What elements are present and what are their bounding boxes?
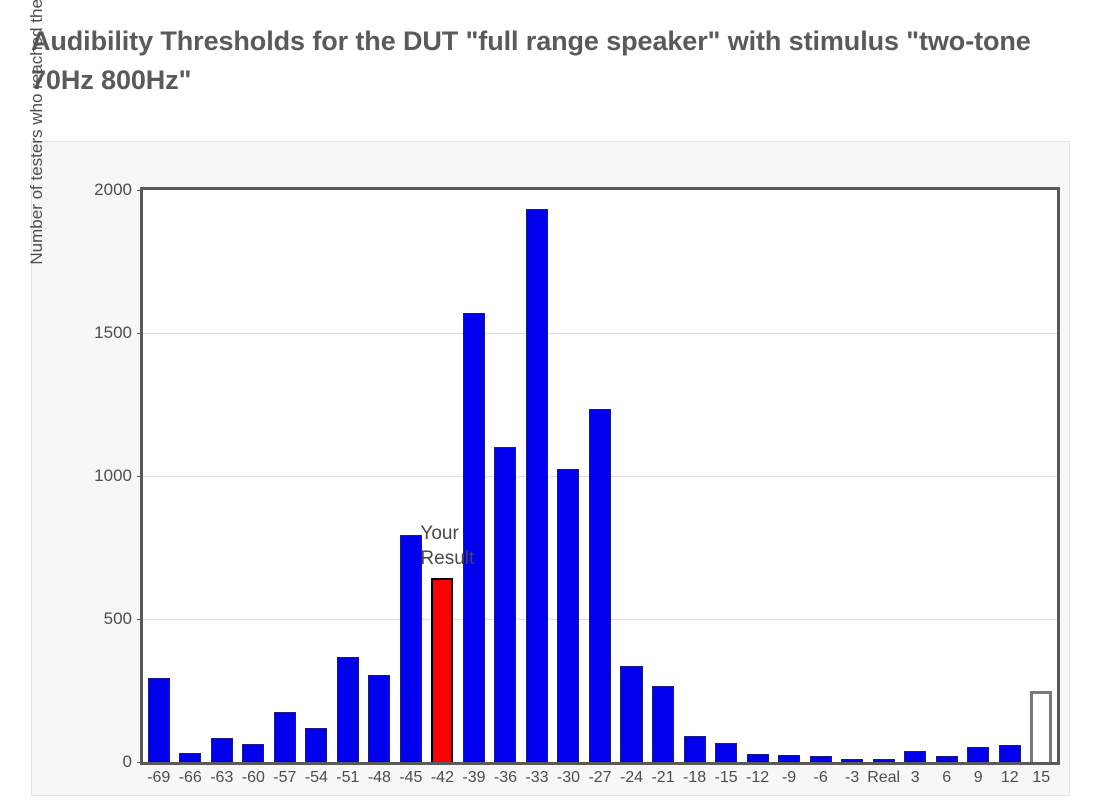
bar[interactable] <box>810 756 832 762</box>
y-tick-mark <box>137 762 143 763</box>
x-tick-label: -48 <box>368 769 391 787</box>
x-tick-label: -30 <box>557 769 580 787</box>
x-tick-label: -6 <box>813 769 827 787</box>
bar[interactable] <box>873 759 895 762</box>
x-tick-label: -15 <box>715 769 738 787</box>
bar[interactable] <box>715 743 737 762</box>
gridline <box>143 333 1057 334</box>
bar[interactable] <box>904 751 926 762</box>
bar[interactable] <box>841 759 863 762</box>
bar[interactable] <box>337 657 359 762</box>
bar[interactable] <box>652 686 674 762</box>
x-tick-label: -36 <box>494 769 517 787</box>
x-tick-label: 3 <box>911 769 920 787</box>
y-tick-label: 500 <box>104 609 132 629</box>
bar[interactable] <box>936 756 958 762</box>
bar[interactable] <box>557 469 579 762</box>
x-tick-label: 6 <box>942 769 951 787</box>
y-tick-label: 2000 <box>94 180 132 200</box>
bar[interactable] <box>211 738 233 762</box>
page-title: Audibility Thresholds for the DUT "full … <box>31 22 1061 100</box>
x-tick-label: -54 <box>305 769 328 787</box>
bar[interactable] <box>148 678 170 762</box>
y-tick-mark <box>137 333 143 334</box>
x-tick-label: -24 <box>620 769 643 787</box>
y-tick-label: 1500 <box>94 323 132 343</box>
bar[interactable] <box>179 753 201 762</box>
x-tick-label: -39 <box>462 769 485 787</box>
x-tick-label: -60 <box>242 769 265 787</box>
x-tick-label: -45 <box>399 769 422 787</box>
bar[interactable] <box>494 447 516 762</box>
y-tick-mark <box>137 619 143 620</box>
bar[interactable] <box>589 409 611 762</box>
x-tick-label: -69 <box>147 769 170 787</box>
bar[interactable] <box>620 666 642 762</box>
x-tick-label: -3 <box>845 769 859 787</box>
bar[interactable] <box>463 313 485 762</box>
x-tick-label: -9 <box>782 769 796 787</box>
bar[interactable] <box>967 747 989 762</box>
bar[interactable] <box>1030 691 1052 763</box>
bar[interactable] <box>999 745 1021 762</box>
bar[interactable] <box>400 535 422 762</box>
x-tick-label: 9 <box>974 769 983 787</box>
bar[interactable] <box>778 755 800 762</box>
x-tick-label: -33 <box>525 769 548 787</box>
x-tick-label: -66 <box>179 769 202 787</box>
y-axis-title: Number of testers who reached the level <box>27 0 47 322</box>
y-tick-mark <box>137 190 143 191</box>
x-tick-label: -12 <box>746 769 769 787</box>
chart-panel: Number of testers who reached the level … <box>31 141 1070 796</box>
x-tick-label: -51 <box>336 769 359 787</box>
x-tick-label: -18 <box>683 769 706 787</box>
y-tick-mark <box>137 476 143 477</box>
y-tick-label: 1000 <box>94 466 132 486</box>
x-tick-label: 12 <box>1001 769 1019 787</box>
y-tick-label: 0 <box>123 752 132 772</box>
x-tick-label: -27 <box>588 769 611 787</box>
plot-inner: 0500100015002000-69-66-63-60-57-54-51-48… <box>143 190 1057 762</box>
x-tick-label: -57 <box>273 769 296 787</box>
plot-area: 0500100015002000-69-66-63-60-57-54-51-48… <box>140 187 1060 765</box>
bar[interactable] <box>368 675 390 762</box>
x-tick-label: Real <box>867 769 900 787</box>
bar[interactable] <box>274 712 296 762</box>
bar[interactable] <box>242 744 264 762</box>
x-tick-label: -63 <box>210 769 233 787</box>
x-tick-label: -21 <box>651 769 674 787</box>
bar[interactable] <box>684 736 706 762</box>
bar[interactable] <box>526 209 548 762</box>
x-tick-label: 15 <box>1032 769 1050 787</box>
bar[interactable] <box>305 728 327 762</box>
bar[interactable] <box>747 754 769 762</box>
x-tick-label: -42 <box>431 769 454 787</box>
bar-your-result[interactable] <box>431 578 453 762</box>
